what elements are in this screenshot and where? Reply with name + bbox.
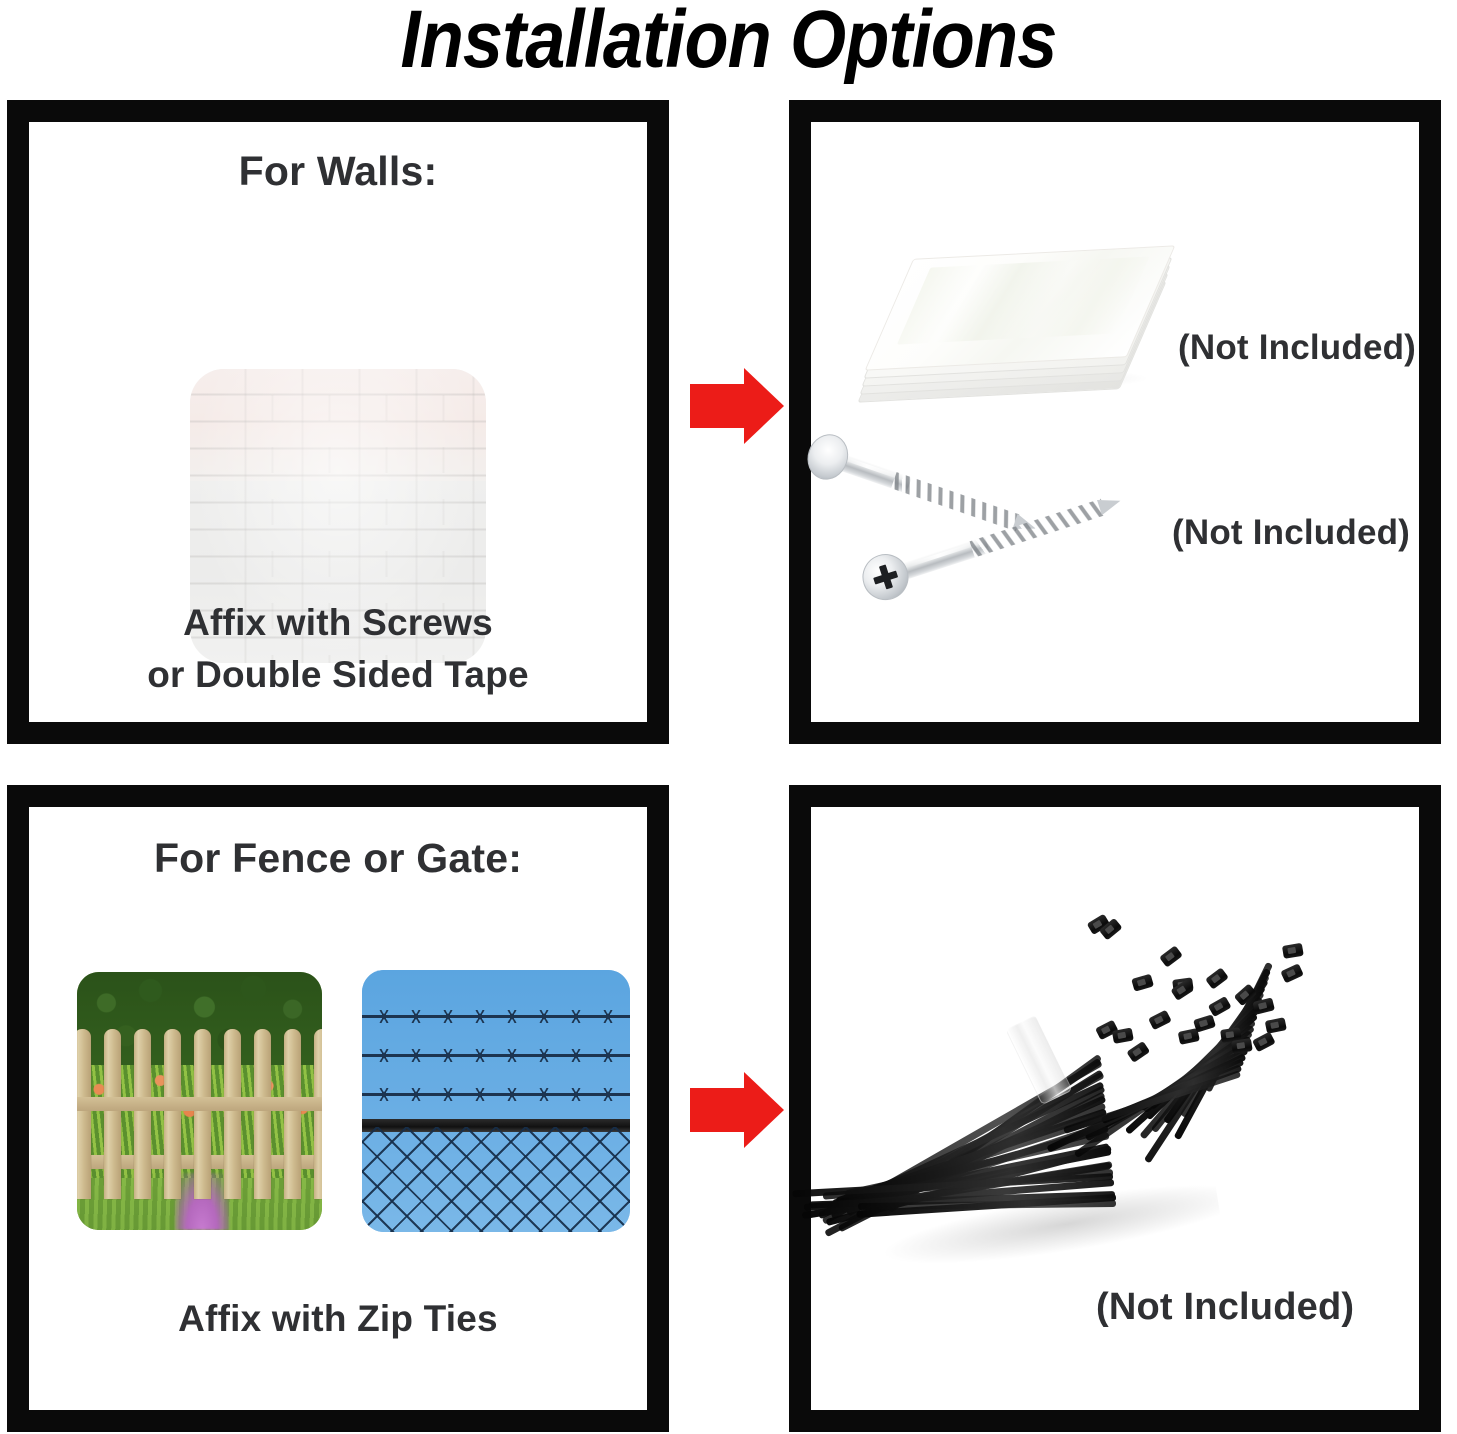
zip-tie-head bbox=[1265, 1017, 1287, 1034]
panel-caption-walls-line1: Affix with Screws bbox=[29, 596, 647, 650]
zip-tie-head bbox=[1112, 1028, 1134, 1044]
panel-heading-for-fence: For Fence or Gate: bbox=[29, 835, 647, 882]
zip-tie-head bbox=[1127, 1041, 1151, 1063]
page-title: Installation Options bbox=[87, 0, 1369, 86]
not-included-label-tape: (Not Included) bbox=[1178, 328, 1416, 368]
zip-tie-head bbox=[1205, 967, 1229, 989]
infographic-root: Installation Options For Walls: Affix wi… bbox=[0, 0, 1457, 1434]
fence-picket bbox=[194, 1029, 211, 1199]
double-sided-tape-image bbox=[862, 236, 1162, 396]
barbed-wire-strand bbox=[362, 1015, 630, 1018]
fence-picket bbox=[104, 1029, 121, 1199]
fence-picket bbox=[164, 1029, 181, 1199]
zip-tie-head bbox=[1131, 974, 1154, 992]
not-included-label-screws: (Not Included) bbox=[1172, 513, 1410, 553]
not-included-label-zip-ties: (Not Included) bbox=[1096, 1286, 1354, 1329]
fence-picket bbox=[134, 1029, 151, 1199]
fence-picket bbox=[254, 1029, 271, 1199]
tape-top-sheet bbox=[865, 245, 1176, 370]
barbed-wire-strand bbox=[362, 1054, 630, 1057]
chain-link-mesh bbox=[362, 1127, 630, 1232]
zip-ties-image bbox=[840, 900, 1310, 1300]
panel-hardware bbox=[789, 100, 1441, 744]
panel-caption-walls-line2: or Double Sided Tape bbox=[29, 648, 647, 702]
fence-picket bbox=[284, 1029, 301, 1199]
panel-heading-for-walls: For Walls: bbox=[29, 148, 647, 195]
zip-tie-head bbox=[1252, 1032, 1276, 1053]
chain-link-fence-photo bbox=[362, 970, 630, 1232]
zip-tie-head bbox=[1148, 1010, 1172, 1031]
panel-hardware-inner bbox=[811, 122, 1419, 722]
wooden-fence-photo bbox=[77, 972, 322, 1230]
picket-group bbox=[77, 1029, 322, 1199]
fence-picket bbox=[314, 1029, 322, 1199]
panel-for-walls: For Walls: Affix with Screws or Double S… bbox=[7, 100, 669, 744]
zip-tie-head bbox=[1282, 943, 1304, 959]
arrow-head bbox=[744, 1072, 784, 1148]
fence-picket bbox=[77, 1029, 91, 1199]
fence-picket bbox=[224, 1029, 241, 1199]
zip-ties-binding-band bbox=[1005, 1015, 1072, 1105]
arrow-shaft bbox=[690, 384, 746, 428]
zip-tie-head bbox=[1159, 945, 1183, 967]
fence-rail-upper bbox=[77, 1097, 322, 1111]
zip-tie-head bbox=[1193, 1014, 1216, 1032]
barbed-wire-strand bbox=[362, 1093, 630, 1096]
panel-caption-fence-line1: Affix with Zip Ties bbox=[29, 1292, 647, 1346]
panel-for-walls-inner: For Walls: Affix with Screws or Double S… bbox=[29, 122, 647, 722]
arrow-head bbox=[744, 368, 784, 444]
arrow-shaft bbox=[690, 1088, 746, 1132]
zip-tie-head bbox=[1208, 996, 1232, 1017]
zip-tie-head bbox=[1281, 963, 1305, 983]
zip-tie-head bbox=[1231, 1038, 1253, 1054]
